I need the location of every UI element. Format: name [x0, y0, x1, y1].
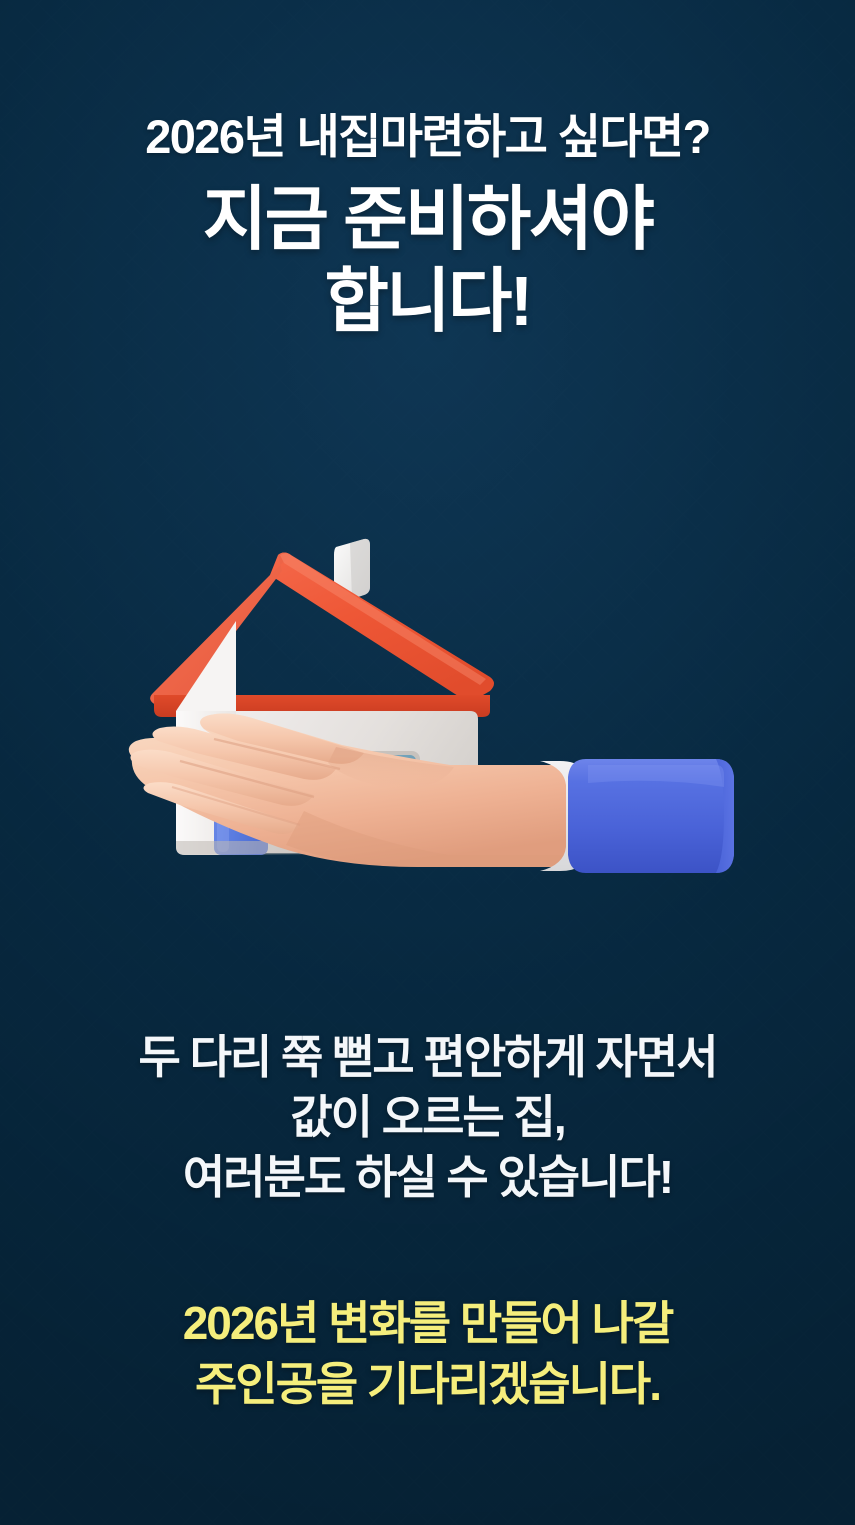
closing-line-1: 2026년 변화를 만들어 나갈: [0, 1293, 855, 1354]
headline-main-line-1: 지금 준비하셔야: [0, 179, 855, 261]
sleeve-cuff: [568, 759, 734, 873]
headline-kicker: 2026년 내집마련하고 싶다면?: [0, 112, 855, 163]
body-copy-block: 두 다리 쭉 뻗고 편안하게 자면서 값이 오르는 집, 여러분도 하실 수 있…: [0, 1028, 855, 1207]
headline-main-line-2: 합니다!: [0, 261, 855, 343]
headline-block: 2026년 내집마련하고 싶다면? 지금 준비하셔야 합니다!: [0, 112, 855, 343]
body-line-1: 두 다리 쭉 뻗고 편안하게 자면서: [0, 1028, 855, 1088]
closing-copy-block: 2026년 변화를 만들어 나갈 주인공을 기다리겠습니다.: [0, 1293, 855, 1414]
closing-line-2: 주인공을 기다리겠습니다.: [0, 1354, 855, 1415]
promo-poster: 2026년 내집마련하고 싶다면? 지금 준비하셔야 합니다!: [0, 0, 855, 1525]
illustration-hand-holding-house: [0, 525, 855, 885]
body-line-2: 값이 오르는 집,: [0, 1088, 855, 1148]
body-line-3: 여러분도 하실 수 있습니다!: [0, 1148, 855, 1208]
roof-highlight: [280, 553, 486, 685]
